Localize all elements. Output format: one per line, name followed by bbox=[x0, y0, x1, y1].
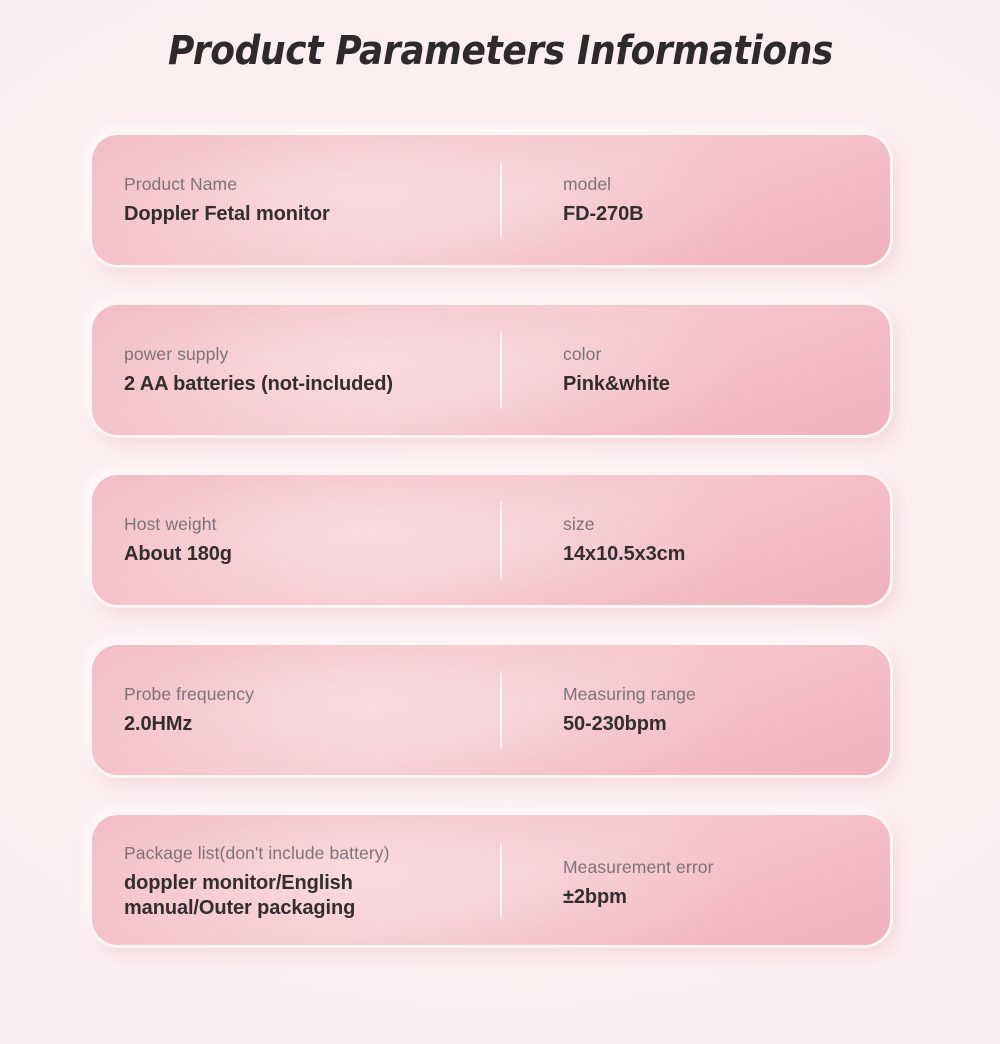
parameter-card-list: Product Name Doppler Fetal monitor model… bbox=[92, 135, 890, 945]
parameter-value: Pink&white bbox=[563, 372, 890, 398]
product-parameters-page: Product Parameters Informations Product … bbox=[0, 0, 1000, 1044]
parameter-value: About 180g bbox=[124, 542, 500, 568]
parameter-card: Product Name Doppler Fetal monitor model… bbox=[92, 135, 890, 265]
parameter-card: power supply 2 AA batteries (not-include… bbox=[92, 305, 890, 435]
parameter-value: ±2bpm bbox=[563, 885, 890, 911]
parameter-cell-right: Measuring range 50-230bpm bbox=[500, 645, 890, 775]
parameter-value: 14x10.5x3cm bbox=[563, 542, 890, 568]
parameter-label: size bbox=[563, 513, 890, 537]
parameter-cell-left: Host weight About 180g bbox=[92, 475, 500, 605]
parameter-cell-right: size 14x10.5x3cm bbox=[500, 475, 890, 605]
parameter-label: color bbox=[563, 343, 890, 367]
parameter-cell-left: Product Name Doppler Fetal monitor bbox=[92, 135, 500, 265]
parameter-card: Package list(don't include battery) dopp… bbox=[92, 815, 890, 945]
parameter-cell-left: power supply 2 AA batteries (not-include… bbox=[92, 305, 500, 435]
parameter-cell-right: color Pink&white bbox=[500, 305, 890, 435]
parameter-value: 50-230bpm bbox=[563, 712, 890, 738]
parameter-cell-left: Package list(don't include battery) dopp… bbox=[92, 815, 500, 945]
parameter-label: Package list(don't include battery) bbox=[124, 842, 500, 866]
parameter-value: 2.0HMz bbox=[124, 712, 500, 738]
parameter-cell-left: Probe frequency 2.0HMz bbox=[92, 645, 500, 775]
parameter-label: power supply bbox=[124, 343, 500, 367]
parameter-value: FD-270B bbox=[563, 202, 890, 228]
page-title: Product Parameters Informations bbox=[167, 26, 832, 76]
parameter-value: doppler monitor/English manual/Outer pac… bbox=[124, 871, 500, 922]
parameter-label: model bbox=[563, 173, 890, 197]
parameter-label: Measurement error bbox=[563, 856, 890, 880]
parameter-card: Probe frequency 2.0HMz Measuring range 5… bbox=[92, 645, 890, 775]
parameter-cell-right: Measurement error ±2bpm bbox=[500, 815, 890, 945]
page-title-container: Product Parameters Informations bbox=[0, 26, 1000, 76]
parameter-label: Probe frequency bbox=[124, 683, 500, 707]
parameter-value: Doppler Fetal monitor bbox=[124, 202, 500, 228]
parameter-value: 2 AA batteries (not-included) bbox=[124, 372, 500, 398]
parameter-label: Product Name bbox=[124, 173, 500, 197]
parameter-cell-right: model FD-270B bbox=[500, 135, 890, 265]
parameter-card: Host weight About 180g size 14x10.5x3cm bbox=[92, 475, 890, 605]
parameter-label: Measuring range bbox=[563, 683, 890, 707]
parameter-label: Host weight bbox=[124, 513, 500, 537]
